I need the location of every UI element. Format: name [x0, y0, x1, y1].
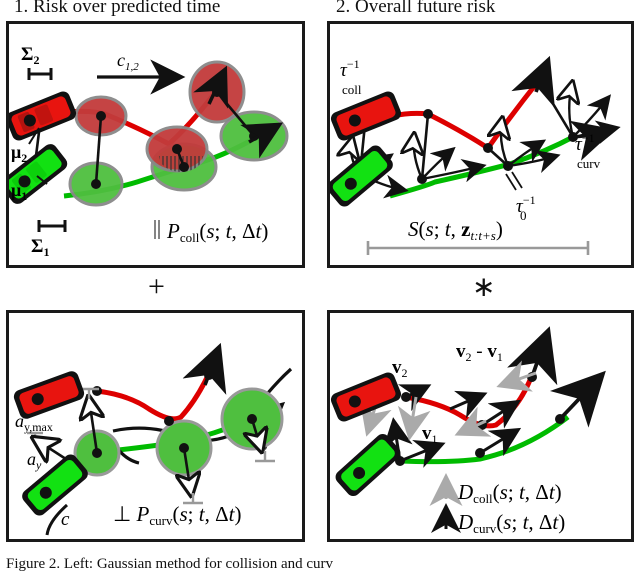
figure-caption: Figure 2. Left: Gaussian method for coll… — [6, 556, 634, 574]
other-vehicle-icon — [9, 89, 78, 142]
operator-plus: + — [148, 272, 165, 302]
other-trajectory — [97, 359, 215, 419]
other-vehicle-icon — [330, 370, 403, 423]
tau0-pointer — [506, 172, 522, 190]
operator-times: ∗ — [472, 274, 495, 302]
sigma2-label: Σ2 — [21, 44, 39, 67]
tau-curv-sub: curv — [577, 156, 601, 171]
S-formula: S(s; t, zt:t+s) — [408, 217, 503, 243]
v-diff-label: v2 - v1 — [456, 341, 503, 364]
v1-label: v1 — [422, 423, 438, 446]
panel-1-canvas: Σ2 Σ1 μ2 μ1 c1,2 Pcoll(s; t, Δt) — [9, 24, 302, 265]
panel-curvature-risk: ay,max ay c ⊥ Pcurv(s; t, Δt) — [6, 310, 305, 542]
mu2-label: μ2 — [11, 142, 27, 165]
other-heading-arrow — [205, 353, 217, 385]
tau-0-sub: 0 — [520, 208, 527, 223]
tau-curv-label: τ−1 — [575, 131, 595, 155]
tau-coll-sub: coll — [342, 82, 362, 97]
panel-2-canvas: τ−1 coll τ−1 0 τ−1 curv S(s; t, zt:t+s) — [330, 24, 631, 265]
tau-coll-label: τ−1 — [340, 57, 360, 81]
panel-velocity-damage: v2 v1 v2 - v1 Dcoll(s; t, Δt) Dcurv(s; t… — [327, 310, 634, 542]
panel-risk-over-predicted-time: Σ2 Σ1 μ2 μ1 c1,2 Pcoll(s; t, Δt) — [6, 21, 305, 268]
panel-1-title: 1. Risk over predicted time — [14, 0, 220, 18]
panel-4-canvas: v2 v1 v2 - v1 Dcoll(s; t, Δt) Dcurv(s; t… — [330, 313, 631, 539]
figure-root: 1. Risk over predicted time 2. Overall f… — [0, 0, 640, 574]
curvature-circles — [75, 389, 282, 475]
panel-2-title: 2. Overall future risk — [336, 0, 495, 18]
sigma2-errorbar — [29, 68, 51, 80]
other-vehicle-icon — [330, 89, 403, 142]
pcurv-formula: ⊥ Pcurv(s; t, Δt) — [113, 502, 241, 528]
panel-3-canvas: ay,max ay c ⊥ Pcurv(s; t, Δt) — [9, 313, 302, 539]
pcoll-legend-swatch — [152, 220, 161, 239]
horizon-scale-bar — [368, 241, 588, 255]
c12-label: c1,2 — [117, 50, 139, 73]
c-label: c — [61, 509, 70, 530]
v2-label: v2 — [392, 357, 408, 380]
panel-overall-future-risk: τ−1 coll τ−1 0 τ−1 curv S(s; t, zt:t+s) — [327, 21, 634, 268]
sigma1-label: Σ1 — [31, 236, 49, 259]
ay-label: ay — [27, 449, 42, 472]
pcoll-formula: Pcoll(s; t, Δt) — [166, 219, 268, 245]
ego-vehicle-icon — [333, 431, 404, 499]
dcurv-legend: Dcurv(s; t, Δt) — [457, 510, 565, 536]
dcoll-legend: Dcoll(s; t, Δt) — [457, 480, 562, 506]
sigma1-errorbar — [39, 220, 65, 232]
